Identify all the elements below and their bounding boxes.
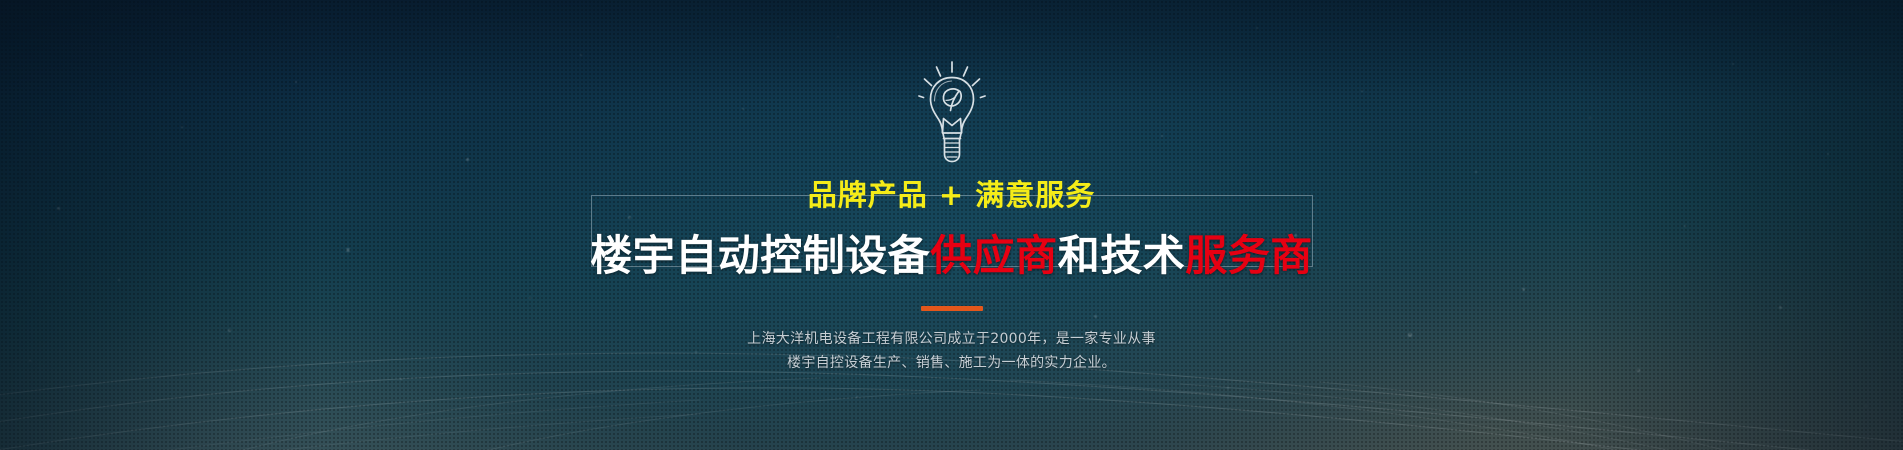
- banner-content: 品牌产品 + 满意服务 楼宇自动控制设备供应商和技术服务商 上海大洋机电设备工程…: [0, 0, 1903, 450]
- headline-part-1: 楼宇自动控制设备: [590, 231, 930, 280]
- headline-part-4: 服务商: [1185, 231, 1313, 280]
- headline-part-2: 供应商: [930, 231, 1058, 280]
- orange-divider: [921, 306, 983, 311]
- hero-banner: 品牌产品 + 满意服务 楼宇自动控制设备供应商和技术服务商 上海大洋机电设备工程…: [0, 0, 1903, 450]
- lightbulb-sketch-icon: [916, 58, 988, 166]
- description-text: 上海大洋机电设备工程有限公司成立于2000年，是一家专业从事 楼宇自控设备生产、…: [747, 327, 1156, 375]
- headline-part-3: 和技术: [1058, 231, 1186, 280]
- headline: 楼宇自动控制设备供应商和技术服务商: [576, 228, 1327, 284]
- tagline: 品牌产品 + 满意服务: [786, 174, 1118, 216]
- description-line-2: 楼宇自控设备生产、销售、施工为一体的实力企业。: [747, 351, 1156, 375]
- description-line-1: 上海大洋机电设备工程有限公司成立于2000年，是一家专业从事: [747, 327, 1156, 351]
